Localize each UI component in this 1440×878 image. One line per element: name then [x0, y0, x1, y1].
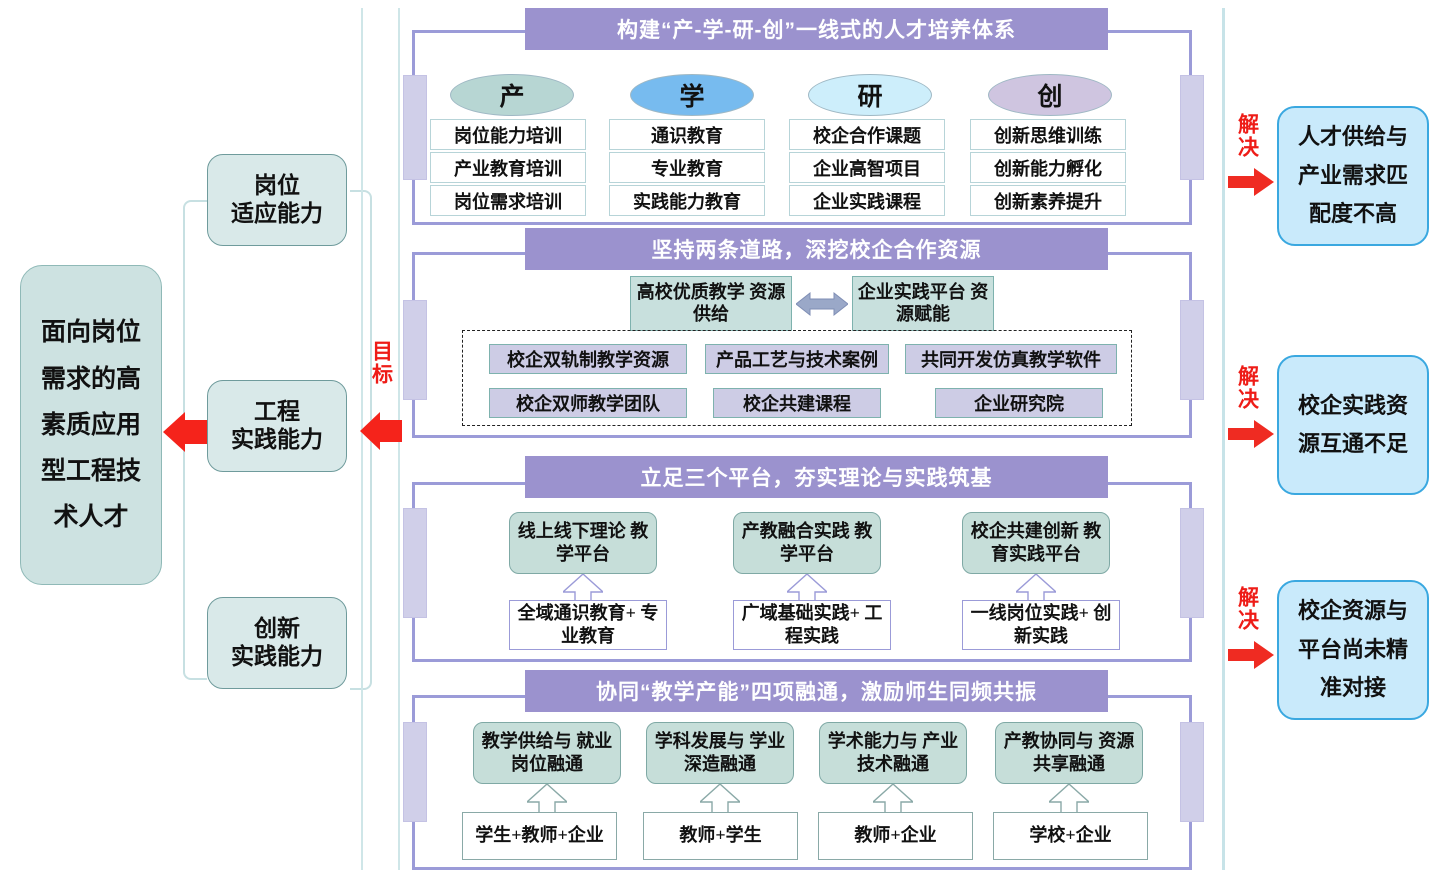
- supply-left-line-1: 高校优质教学: [637, 282, 745, 302]
- goal-box: 面向岗位 需求的高 素质应用 型工程技 术人才: [20, 265, 162, 585]
- pillar-xue-item-3: 实践能力教育: [609, 185, 765, 216]
- pillar-yan-item-2: 企业高智项目: [789, 152, 945, 183]
- platform-box-1: 线上线下理论 教学平台: [509, 512, 657, 574]
- fusion-box-4: 产教协同与 资源共享融通: [995, 722, 1143, 784]
- goal-line-4: 型工程技: [41, 448, 141, 494]
- section-1-title: 构建“产-学-研-创”一线式的人才培养体系: [525, 8, 1108, 50]
- resource-item-5: 校企共建课程: [713, 388, 881, 418]
- solve-arrow-icon-2: [1228, 419, 1274, 449]
- fusion-4-line-1: 产教协同与: [1004, 731, 1094, 751]
- solve-label-2-text: 解决: [1237, 365, 1258, 411]
- pillar-yan-item-1: 校企合作课题: [789, 119, 945, 150]
- pillar-yan-item-3: 企业实践课程: [789, 185, 945, 216]
- supply-right-line-1: 企业实践平台: [858, 282, 966, 302]
- problem-1-line-3: 配度不高: [1298, 195, 1408, 234]
- ability-2-line-1: 工程: [231, 398, 323, 426]
- problem-box-2: 校企实践资 源互通不足: [1277, 355, 1429, 495]
- fusion-1-line-1: 教学供给与: [482, 731, 572, 751]
- pillar-chan-item-2: 产业教育培训: [430, 152, 586, 183]
- problem-3-line-1: 校企资源与: [1298, 592, 1408, 631]
- resource-item-4: 校企双师教学团队: [489, 388, 687, 418]
- fusion-2-up-arrow-icon: [700, 784, 740, 814]
- problem-box-1: 人才供给与 产业需求匹 配度不高: [1277, 106, 1429, 246]
- solve-label-3: 解决: [1232, 586, 1262, 632]
- solve-label-2: 解决: [1232, 365, 1262, 411]
- ability-box-2: 工程 实践能力: [207, 380, 347, 472]
- section-2-title: 坚持两条道路，深挖校企合作资源: [525, 228, 1108, 270]
- platform-base-1-line-1: 全域通识教育+: [518, 603, 636, 623]
- problem-1-line-2: 产业需求匹: [1298, 157, 1408, 196]
- solve-arrow-icon-3: [1228, 640, 1274, 670]
- diagram-canvas: 面向岗位 需求的高 素质应用 型工程技 术人才 岗位 适应能力 工程 实践能力 …: [0, 0, 1440, 878]
- pillar-chan-item-1: 岗位能力培训: [430, 119, 586, 150]
- ability-box-3: 创新 实践能力: [207, 597, 347, 689]
- resource-item-3: 共同开发仿真教学软件: [905, 344, 1117, 374]
- platform-3-line-1: 校企共建创新: [971, 521, 1079, 541]
- platform-base-2: 广域基础实践+ 工程实践: [733, 600, 891, 650]
- platform-base-3-line-1: 一线岗位实践+: [971, 603, 1089, 623]
- section-3-title: 立足三个平台，夯实理论与实践筑基: [525, 456, 1108, 498]
- fusion-box-1: 教学供给与 就业岗位融通: [473, 722, 621, 784]
- pillar-ellipse-chuang-label: 创: [1037, 77, 1062, 113]
- solve-label-3-text: 解决: [1237, 586, 1258, 632]
- pillar-chuang-item-2: 创新能力孵化: [970, 152, 1126, 183]
- solve-arrow-icon-1: [1228, 167, 1274, 197]
- section-2-tab-right: [1180, 300, 1204, 400]
- fusion-3-up-arrow-icon: [873, 784, 913, 814]
- fusion-box-3: 学术能力与 产业技术融通: [819, 722, 967, 784]
- pillar-ellipse-xue-label: 学: [679, 77, 704, 113]
- section-4-title: 协同“教学产能”四项融通，激励师生同频共振: [525, 670, 1108, 712]
- problem-2-line-2: 源互通不足: [1298, 425, 1408, 464]
- fusion-2-line-1: 学科发展与: [655, 731, 745, 751]
- resource-item-1: 校企双轨制教学资源: [489, 344, 687, 374]
- double-arrow-icon: [796, 291, 848, 317]
- supply-box-left: 高校优质教学 资源供给: [630, 276, 792, 331]
- section-1-tab-right: [1180, 75, 1204, 180]
- resource-item-2: 产品工艺与技术案例: [705, 344, 889, 374]
- target-label-char-1: 目标: [371, 340, 392, 386]
- problem-box-3: 校企资源与 平台尚未精 准对接: [1277, 580, 1429, 720]
- pillar-ellipse-yan: 研: [808, 74, 932, 116]
- platform-box-3: 校企共建创新 教育实践平台: [962, 512, 1110, 574]
- goal-line-2: 需求的高: [41, 356, 141, 402]
- fusion-base-1: 学生+教师+企业: [462, 812, 617, 860]
- platform-base-1: 全域通识教育+ 专业教育: [509, 600, 667, 650]
- supply-box-right: 企业实践平台 资源赋能: [852, 276, 994, 331]
- fusion-base-4: 学校+企业: [993, 812, 1148, 860]
- solve-label-1: 解决: [1232, 113, 1262, 159]
- goal-line-5: 术人才: [53, 494, 128, 540]
- pillar-ellipse-chuang: 创: [988, 74, 1112, 116]
- fusion-box-2: 学科发展与 学业深造融通: [646, 722, 794, 784]
- target-label: 目标: [364, 340, 398, 386]
- problem-2-line-1: 校企实践资: [1298, 387, 1408, 426]
- problem-1-line-1: 人才供给与: [1298, 118, 1408, 157]
- platform-base-3: 一线岗位实践+ 创新实践: [962, 600, 1120, 650]
- ability-1-line-2: 适应能力: [231, 200, 323, 228]
- pillar-xue-item-2: 专业教育: [609, 152, 765, 183]
- resource-item-6: 企业研究院: [935, 388, 1103, 418]
- pillar-chuang-item-3: 创新素养提升: [970, 185, 1126, 216]
- pillar-ellipse-xue: 学: [630, 74, 754, 116]
- section-3-tab-right: [1180, 508, 1204, 618]
- problem-3-line-3: 准对接: [1298, 669, 1408, 708]
- pillar-chan-item-3: 岗位需求培训: [430, 185, 586, 216]
- target-arrow-icon: [360, 412, 402, 450]
- pillar-ellipse-yan-label: 研: [857, 77, 882, 113]
- pillar-ellipse-chan: 产: [450, 74, 574, 116]
- section-1-tab-left: [403, 75, 427, 180]
- section-4-tab-right: [1180, 722, 1204, 822]
- problem-3-line-2: 平台尚未精: [1298, 631, 1408, 670]
- solve-rail: [1222, 8, 1225, 870]
- platform-2-line-1: 产教融合实践: [742, 521, 850, 541]
- section-4-tab-left: [403, 722, 427, 822]
- goal-line-3: 素质应用: [41, 402, 141, 448]
- section-3-tab-left: [403, 508, 427, 618]
- ability-3-line-1: 创新: [231, 615, 323, 643]
- ability-1-line-1: 岗位: [231, 172, 323, 200]
- ability-box-1: 岗位 适应能力: [207, 154, 347, 246]
- fusion-1-up-arrow-icon: [527, 784, 567, 814]
- pillar-ellipse-chan-label: 产: [499, 77, 524, 113]
- fusion-base-2: 教师+学生: [643, 812, 798, 860]
- pillar-chuang-item-1: 创新思维训练: [970, 119, 1126, 150]
- section-2-tab-left: [403, 300, 427, 400]
- ability-3-line-2: 实践能力: [231, 643, 323, 671]
- goal-arrow-icon: [163, 412, 213, 452]
- solve-label-1-text: 解决: [1237, 113, 1258, 159]
- platform-1-line-1: 线上线下理论: [518, 521, 626, 541]
- platform-base-2-line-1: 广域基础实践+: [742, 603, 860, 623]
- fusion-3-line-1: 学术能力与: [828, 731, 918, 751]
- platform-box-2: 产教融合实践 教学平台: [733, 512, 881, 574]
- pillar-xue-item-1: 通识教育: [609, 119, 765, 150]
- fusion-base-3: 教师+企业: [818, 812, 973, 860]
- fusion-4-up-arrow-icon: [1049, 784, 1089, 814]
- goal-line-1: 面向岗位: [41, 309, 141, 355]
- ability-2-line-2: 实践能力: [231, 426, 323, 454]
